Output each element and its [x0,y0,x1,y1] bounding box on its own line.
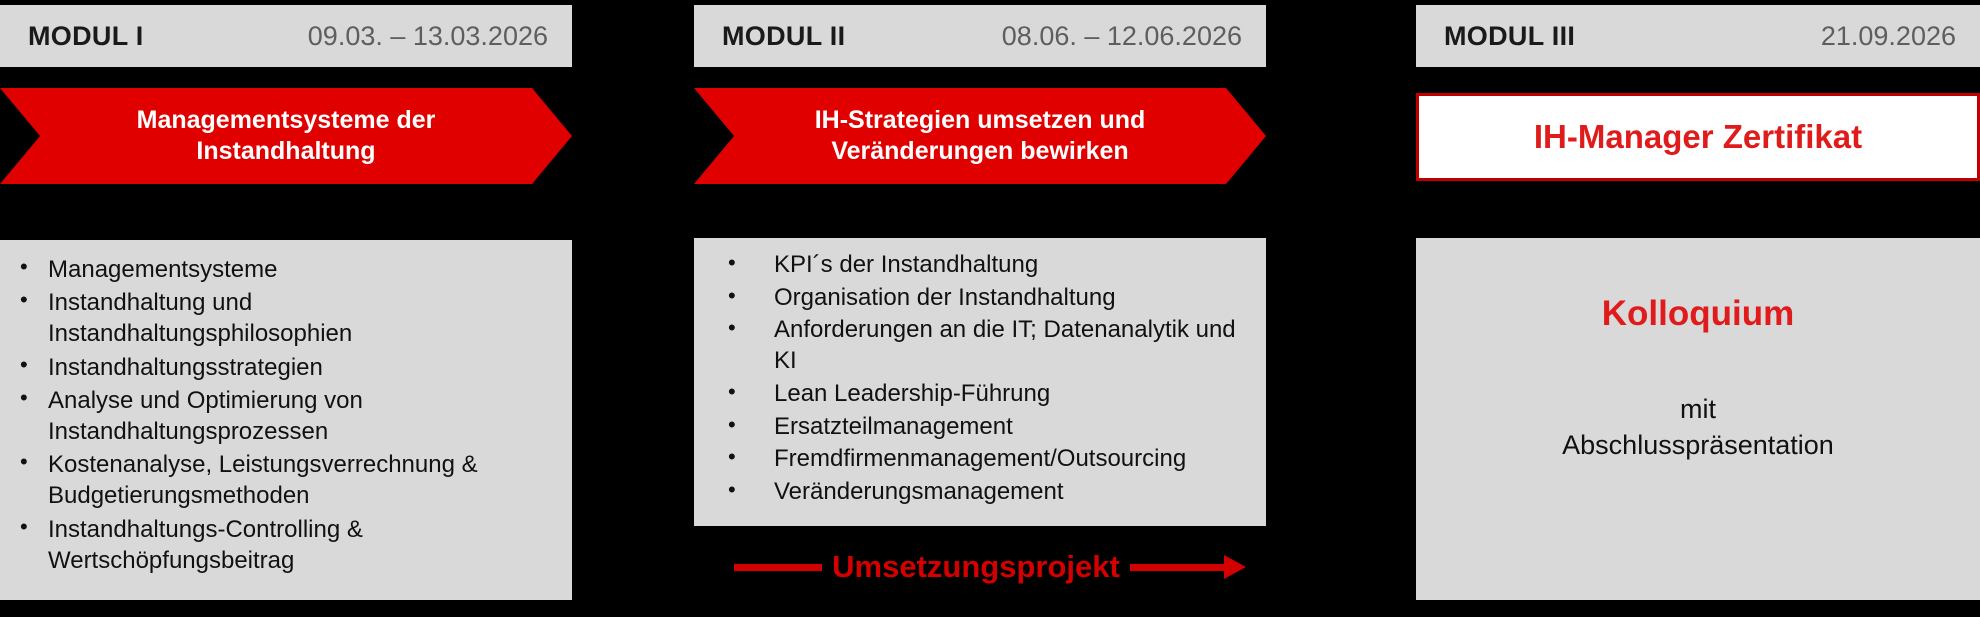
certificate-box: IH-Manager Zertifikat [1416,93,1980,181]
module-column-2: MODUL II 08.06. – 12.06.2026 IH-Strategi… [694,0,1266,617]
list-item: Kostenanalyse, Leistungsverrechnung & Bu… [14,449,554,511]
module-title-1: MODUL I [28,21,144,52]
module-content-panel-1: Managementsysteme Instandhaltung und Ins… [0,240,572,600]
module-header-3: MODUL III 21.09.2026 [1416,5,1980,67]
list-item: Instandhaltung und Instandhaltungsphilos… [14,287,554,349]
module-banner-1: Managementsysteme der Instandhaltung [0,88,572,184]
colloquium-subtitle: mit Abschlusspräsentation [1562,392,1834,463]
project-arrow-banner: Umsetzungsprojekt [694,541,1266,593]
list-item: Lean Leadership-Führung [708,379,1248,410]
module-header-1: MODUL I 09.03. – 13.03.2026 [0,5,572,67]
list-item: KPI´s der Instandhaltung [708,250,1248,281]
module-content-panel-2: KPI´s der Instandhaltung Organisation de… [694,238,1266,526]
colloquium-title: Kolloquium [1602,294,1794,334]
project-arrow-label: Umsetzungsprojekt [832,549,1120,585]
certificate-title: IH-Manager Zertifikat [1534,118,1862,156]
colloquium-box: Kolloquium mit Abschlusspräsentation [1416,238,1980,600]
module-date-3: 21.09.2026 [1821,21,1956,52]
module-date-1: 09.03. – 13.03.2026 [308,21,548,52]
module-banner-title-1: Managementsysteme der Instandhaltung [137,105,436,168]
list-item: Veränderungsmanagement [708,477,1248,508]
module-column-1: MODUL I 09.03. – 13.03.2026 Managementsy… [0,0,572,617]
module-banner-2: IH-Strategien umsetzen und Veränderungen… [694,88,1266,184]
list-item: Ersatzteilmanagement [708,412,1248,443]
module-title-3: MODUL III [1444,21,1575,52]
module-title-2: MODUL II [722,21,845,52]
topic-list-2: KPI´s der Instandhaltung Organisation de… [708,250,1248,508]
list-item: Analyse und Optimierung von Instandhaltu… [14,385,554,447]
arrow-line-left-icon [734,564,822,571]
list-item: Managementsysteme [14,254,554,285]
roadmap-diagram: MODUL I 09.03. – 13.03.2026 Managementsy… [0,0,1980,617]
list-item: Fremdfirmenmanagement/Outsourcing [708,444,1248,475]
module-header-2: MODUL II 08.06. – 12.06.2026 [694,5,1266,67]
arrow-right-icon [1130,564,1226,571]
topic-list-1: Managementsysteme Instandhaltung und Ins… [14,254,554,576]
list-item: Anforderungen an die IT; Datenanalytik u… [708,315,1248,376]
module-banner-title-2: IH-Strategien umsetzen und Veränderungen… [815,105,1146,168]
module-date-2: 08.06. – 12.06.2026 [1002,21,1242,52]
list-item: Organisation der Instandhaltung [708,283,1248,314]
list-item: Instandhaltungs-Controlling & Wertschöpf… [14,514,554,576]
list-item: Instandhaltungsstrategien [14,352,554,383]
module-column-3: MODUL III 21.09.2026 IH-Manager Zertifik… [1416,0,1980,617]
